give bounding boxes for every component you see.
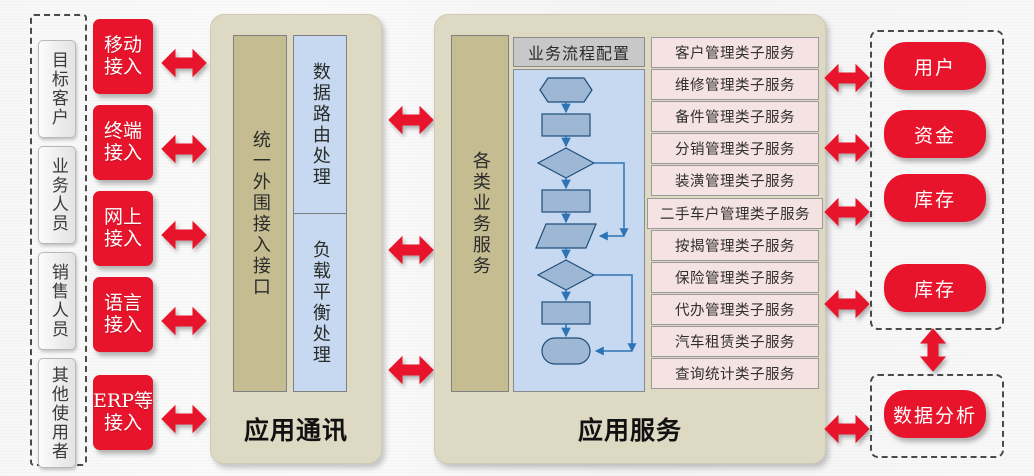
service-panel-title: 应用服务 (435, 411, 825, 447)
access-label-line2: 接入 (104, 412, 142, 434)
access-label-line1: 网上 (104, 206, 142, 228)
access-channel-button[interactable]: ERP等接入 (93, 375, 153, 450)
access-label-line2: 接入 (104, 314, 142, 336)
access-channel-button[interactable]: 语言接入 (93, 277, 153, 352)
service-item[interactable]: 分销管理类子服务 (651, 133, 819, 164)
access-channel-label: 网上接入 (104, 207, 142, 250)
access-channel-label: 终端接入 (104, 121, 142, 164)
double-arrow-icon (388, 234, 434, 266)
actor-label: 目标客户 (48, 51, 66, 127)
access-channel-button[interactable]: 移动接入 (93, 19, 153, 94)
access-channel-button[interactable]: 网上接入 (93, 191, 153, 266)
service-item[interactable]: 二手车户管理类子服务 (647, 198, 823, 229)
double-arrow-icon (161, 47, 207, 79)
service-item-list: 客户管理类子服务维修管理类子服务备件管理类子服务分销管理类子服务装潢管理类子服务… (435, 15, 825, 463)
double-arrow-icon (161, 305, 207, 337)
access-label-line1: 终端 (104, 120, 142, 142)
load-balancing-box[interactable]: 负载平衡处理 (293, 213, 347, 392)
data-routing-label: 数据路由处理 (310, 62, 330, 188)
service-item[interactable]: 装潢管理类子服务 (651, 165, 819, 196)
access-label-line1: ERP等 (93, 390, 153, 412)
vertical-double-arrow (916, 328, 950, 372)
actor-label: 业务人员 (48, 157, 66, 233)
service-item[interactable]: 汽车租赁类子服务 (651, 326, 819, 357)
resource-pill[interactable]: 数据分析 (884, 390, 986, 438)
double-arrow-icon (824, 288, 870, 320)
double-arrow-icon (824, 132, 870, 164)
double-arrow-icon (161, 219, 207, 251)
service-item[interactable]: 按揭管理类子服务 (651, 230, 819, 261)
actor-label: 销售人员 (48, 263, 66, 339)
service-item[interactable]: 备件管理类子服务 (651, 101, 819, 132)
access-channel-button[interactable]: 终端接入 (93, 105, 153, 180)
actor-item[interactable]: 销售人员 (38, 252, 76, 350)
comm-panel-title: 应用通讯 (211, 411, 381, 447)
service-item[interactable]: 保险管理类子服务 (651, 262, 819, 293)
actor-item[interactable]: 其他使用者 (38, 358, 76, 468)
access-channel-label: ERP等接入 (93, 391, 153, 434)
service-item[interactable]: 查询统计类子服务 (651, 358, 819, 389)
application-service-panel: 各类业务服务 业务流程配置 (434, 14, 826, 464)
access-label-line2: 接入 (104, 142, 142, 164)
actor-label: 其他使用者 (48, 366, 66, 461)
load-balancing-label: 负载平衡处理 (310, 240, 330, 366)
double-arrow-icon (388, 104, 434, 136)
service-item[interactable]: 代办管理类子服务 (651, 294, 819, 325)
actor-item[interactable]: 目标客户 (38, 40, 76, 138)
resource-pill[interactable]: 资金 (884, 110, 986, 158)
double-arrow-icon (161, 133, 207, 165)
access-label-line1: 语言 (104, 292, 142, 314)
resource-pill[interactable]: 用户 (884, 42, 986, 90)
access-channel-label: 移动接入 (104, 35, 142, 78)
actor-item[interactable]: 业务人员 (38, 146, 76, 244)
double-arrow-icon (824, 196, 870, 228)
access-channel-label: 语言接入 (104, 293, 142, 336)
data-routing-box[interactable]: 数据路由处理 (293, 35, 347, 214)
access-label-line1: 移动 (104, 34, 142, 56)
double-arrow-icon (824, 62, 870, 94)
access-label-line2: 接入 (104, 56, 142, 78)
application-communication-panel: 统一外围接入接口 数据路由处理 负载平衡处理 应用通讯 (210, 14, 382, 464)
service-item[interactable]: 维修管理类子服务 (651, 69, 819, 100)
service-item[interactable]: 客户管理类子服务 (651, 37, 819, 68)
unified-interface-label: 统一外围接入接口 (250, 130, 270, 298)
unified-interface-box[interactable]: 统一外围接入接口 (233, 35, 287, 392)
resource-pill[interactable]: 库存 (884, 174, 986, 222)
double-arrow-icon (824, 413, 870, 445)
double-arrow-icon (388, 354, 434, 386)
access-label-line2: 接入 (104, 228, 142, 250)
double-arrow-icon (161, 403, 207, 435)
resource-pill[interactable]: 库存 (884, 264, 986, 312)
